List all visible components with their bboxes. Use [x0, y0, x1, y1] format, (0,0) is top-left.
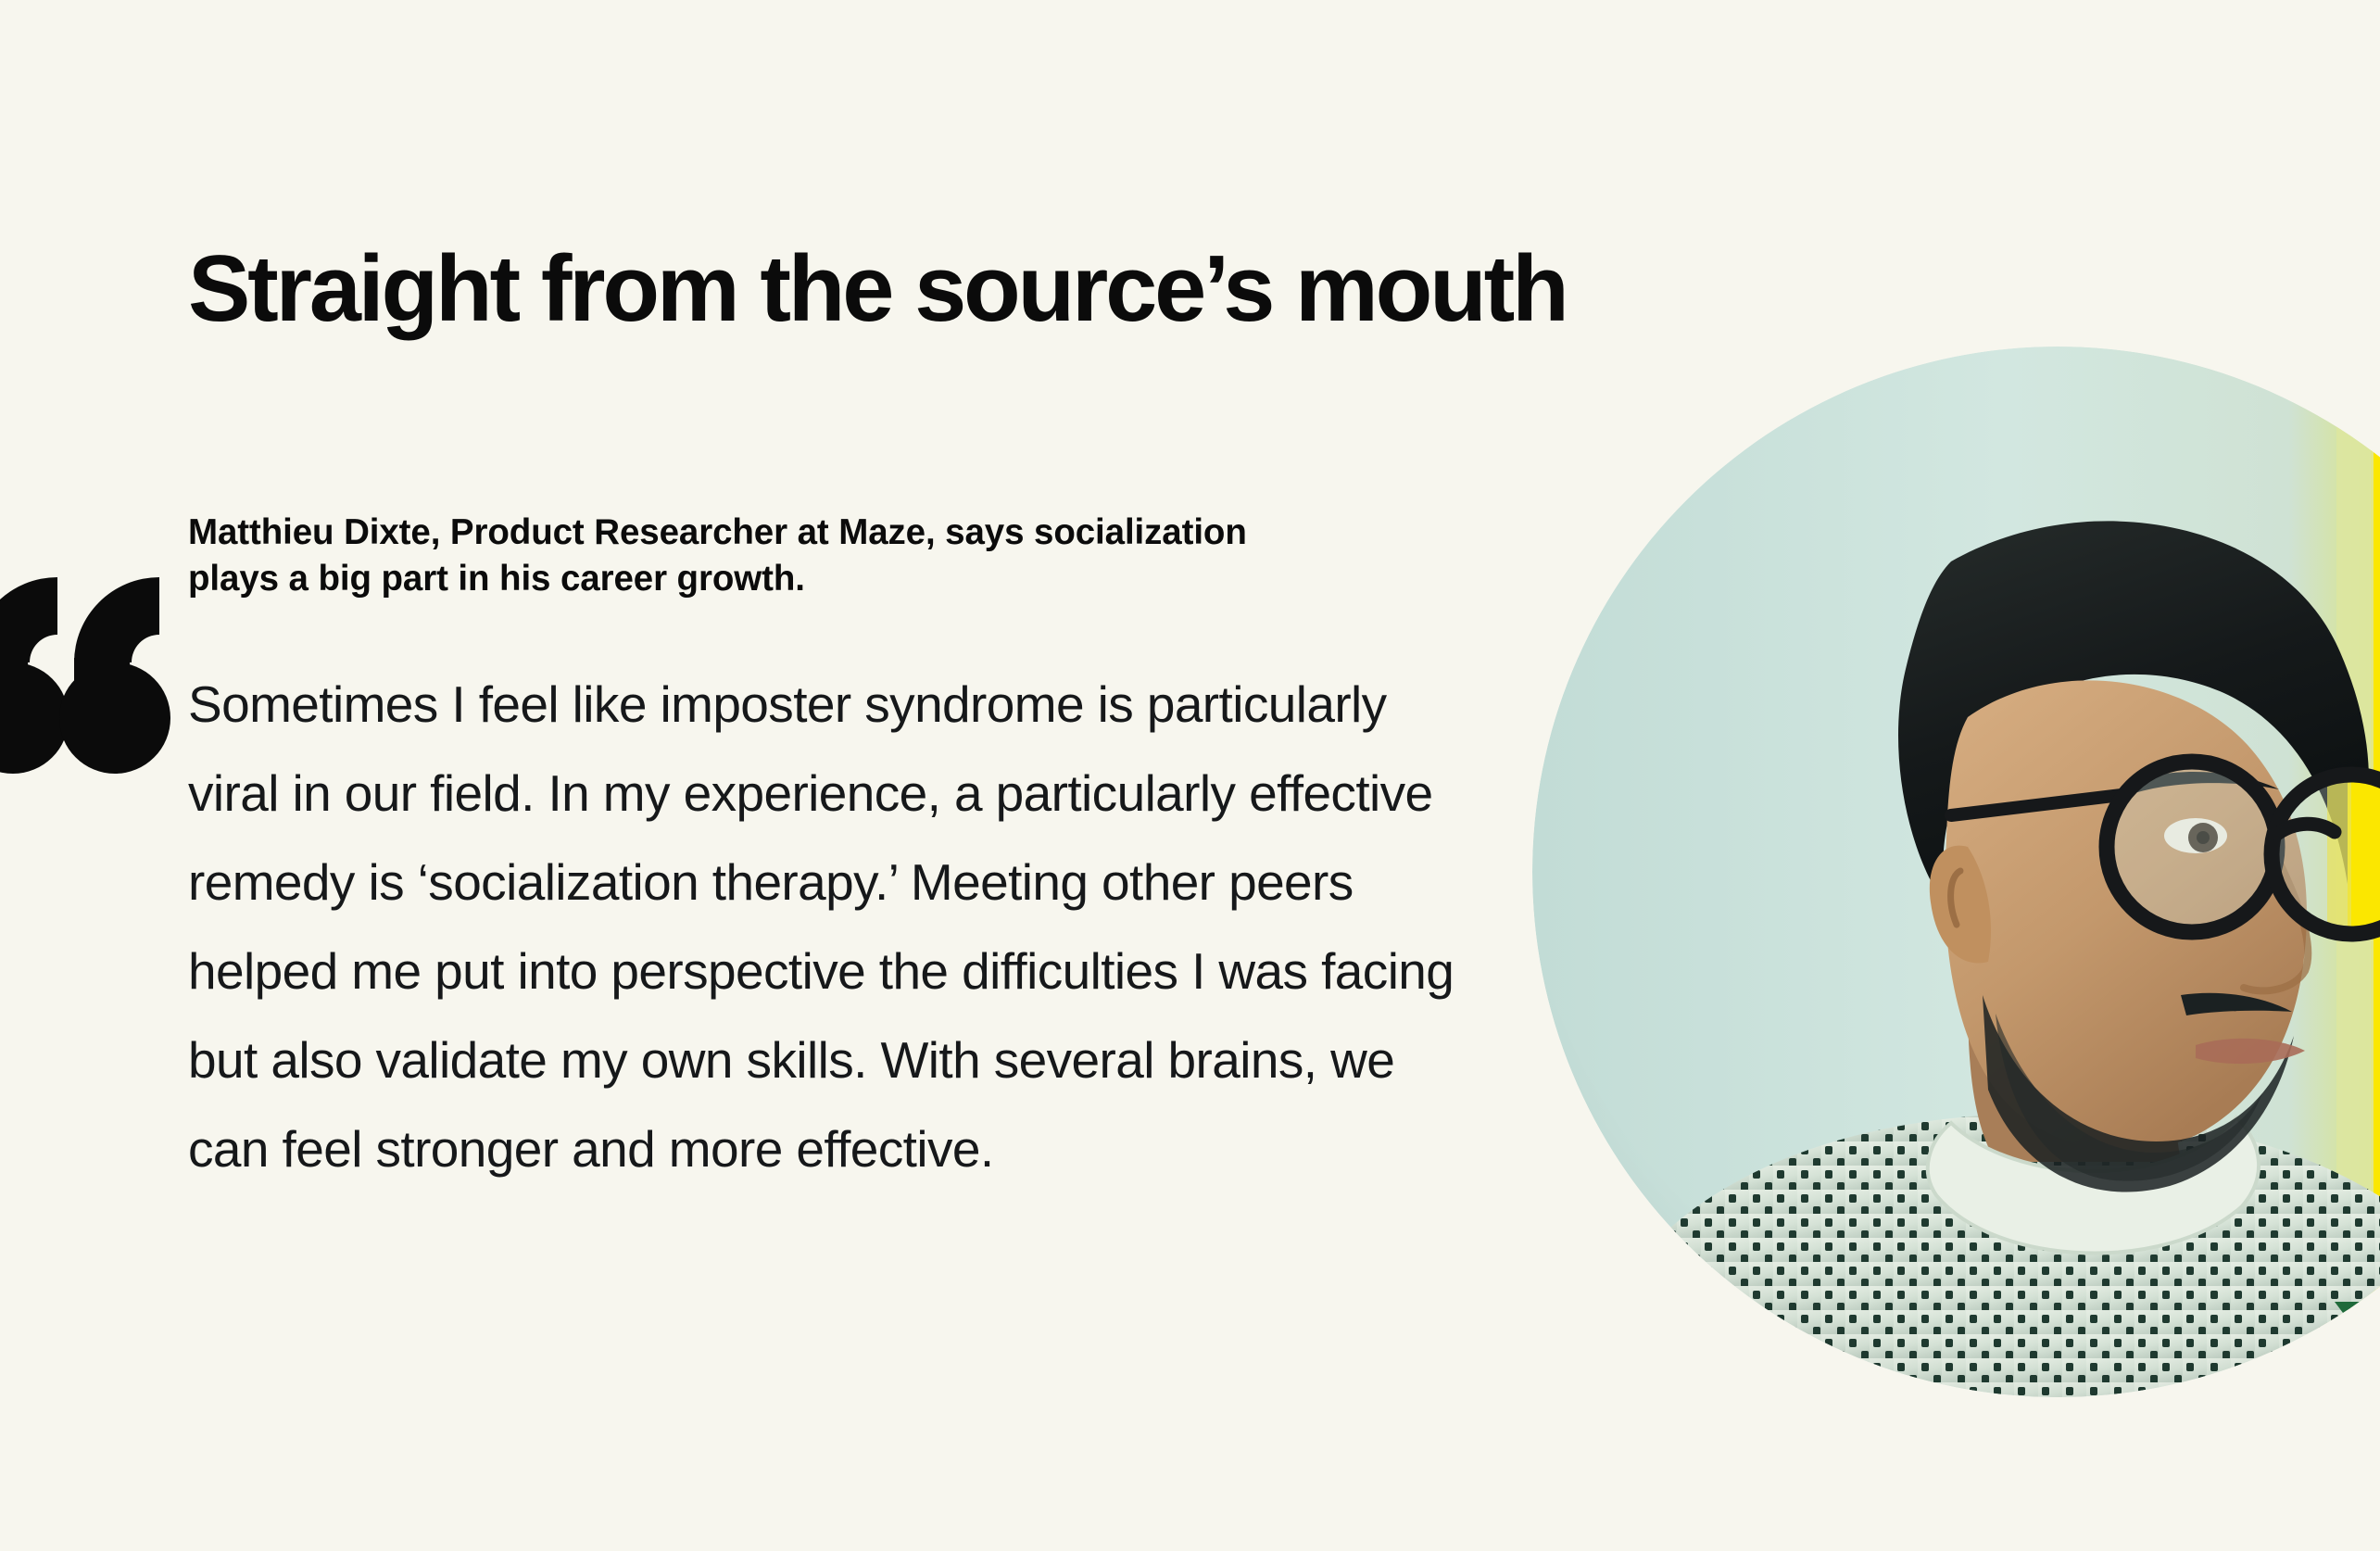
testimonial-slide: Straight from the source’s mouth Matthie…: [0, 0, 2380, 1551]
portrait-photo: [1532, 347, 2380, 1397]
testimonial-text-column: Matthieu Dixte, Product Researcher at Ma…: [188, 510, 1476, 1193]
quote-mark-icon: [0, 519, 178, 825]
testimonial-quote: Sometimes I feel like imposter syndrome …: [188, 660, 1457, 1193]
page-title: Straight from the source’s mouth: [188, 239, 1567, 340]
testimonial-attribution: Matthieu Dixte, Product Researcher at Ma…: [188, 510, 1300, 602]
